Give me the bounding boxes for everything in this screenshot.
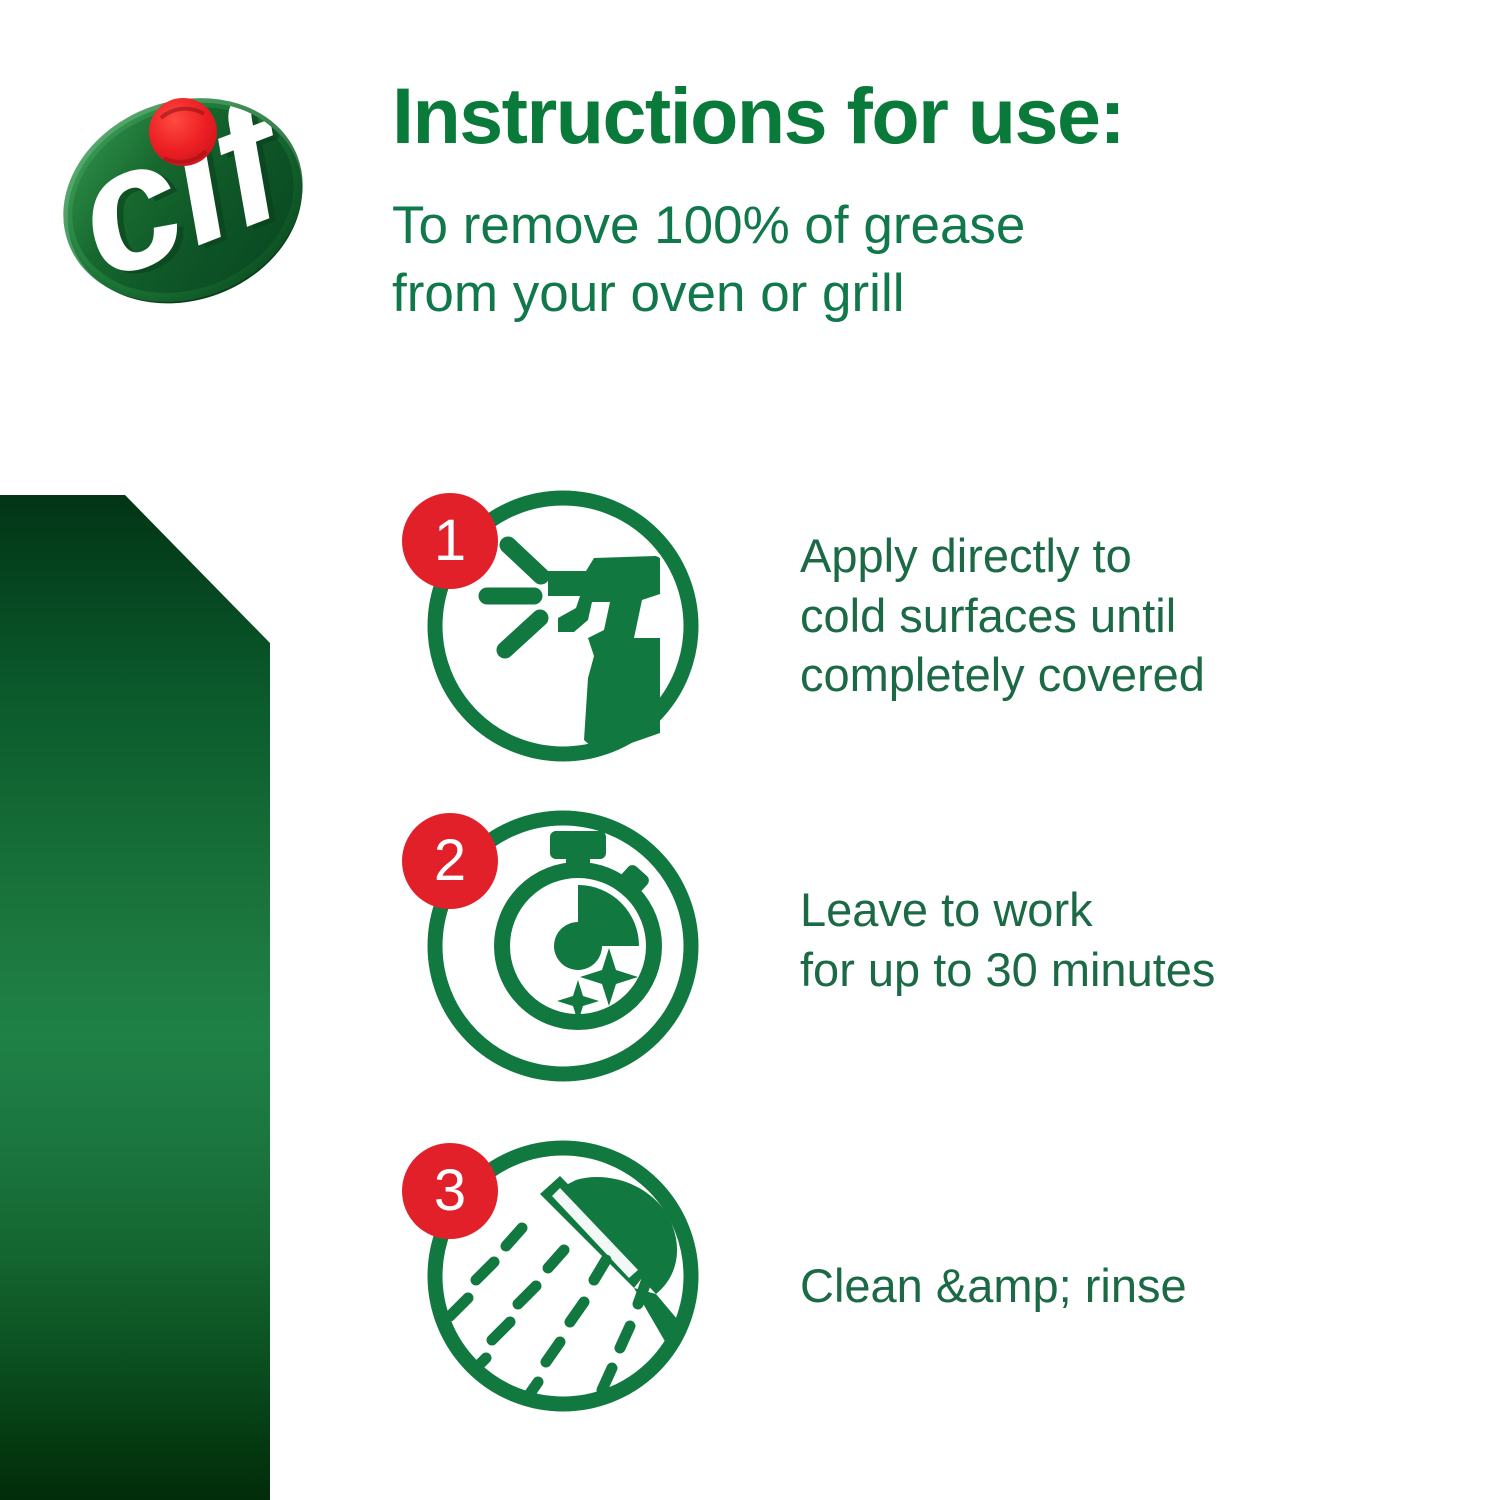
left-green-panel: [0, 495, 270, 1500]
step-2-line-2: for up to 30 minutes: [800, 940, 1215, 1000]
step-3-badge: 3: [398, 1128, 728, 1418]
step-1-line-2: cold surfaces until: [800, 586, 1205, 646]
step-2-line-1: Leave to work: [800, 880, 1215, 940]
step-3-text: Clean &amp; rinse: [800, 1256, 1187, 1316]
step-1-badge: 1: [398, 478, 728, 768]
page-title: Instructions for use:: [392, 76, 1124, 155]
step-3-line-1: Clean &amp; rinse: [800, 1256, 1187, 1316]
page-subtitle-line-2: from your oven or grill: [392, 260, 1025, 328]
step-2-number: 2: [434, 828, 466, 893]
step-1-number: 1: [434, 508, 466, 573]
cif-logo: cif cif: [58, 72, 308, 327]
page-subtitle-line-1: To remove 100% of grease: [392, 192, 1025, 260]
step-3: Clean &amp; rinse 3: [398, 1128, 1398, 1418]
step-2-badge: 2: [398, 798, 728, 1088]
step-1-text: Apply directly to cold surfaces until co…: [800, 526, 1205, 705]
instructions-infographic: cif cif Instructions for use: To remove …: [0, 0, 1500, 1500]
step-3-number: 3: [434, 1158, 466, 1223]
page-subtitle: To remove 100% of grease from your oven …: [392, 192, 1025, 328]
step-2-text: Leave to work for up to 30 minutes: [800, 880, 1215, 999]
step-1: Apply directly to cold surfaces until co…: [398, 478, 1398, 768]
step-1-line-3: completely covered: [800, 645, 1205, 705]
step-2: Leave to work for up to 30 minutes 2: [398, 798, 1398, 1088]
step-1-line-1: Apply directly to: [800, 526, 1205, 586]
